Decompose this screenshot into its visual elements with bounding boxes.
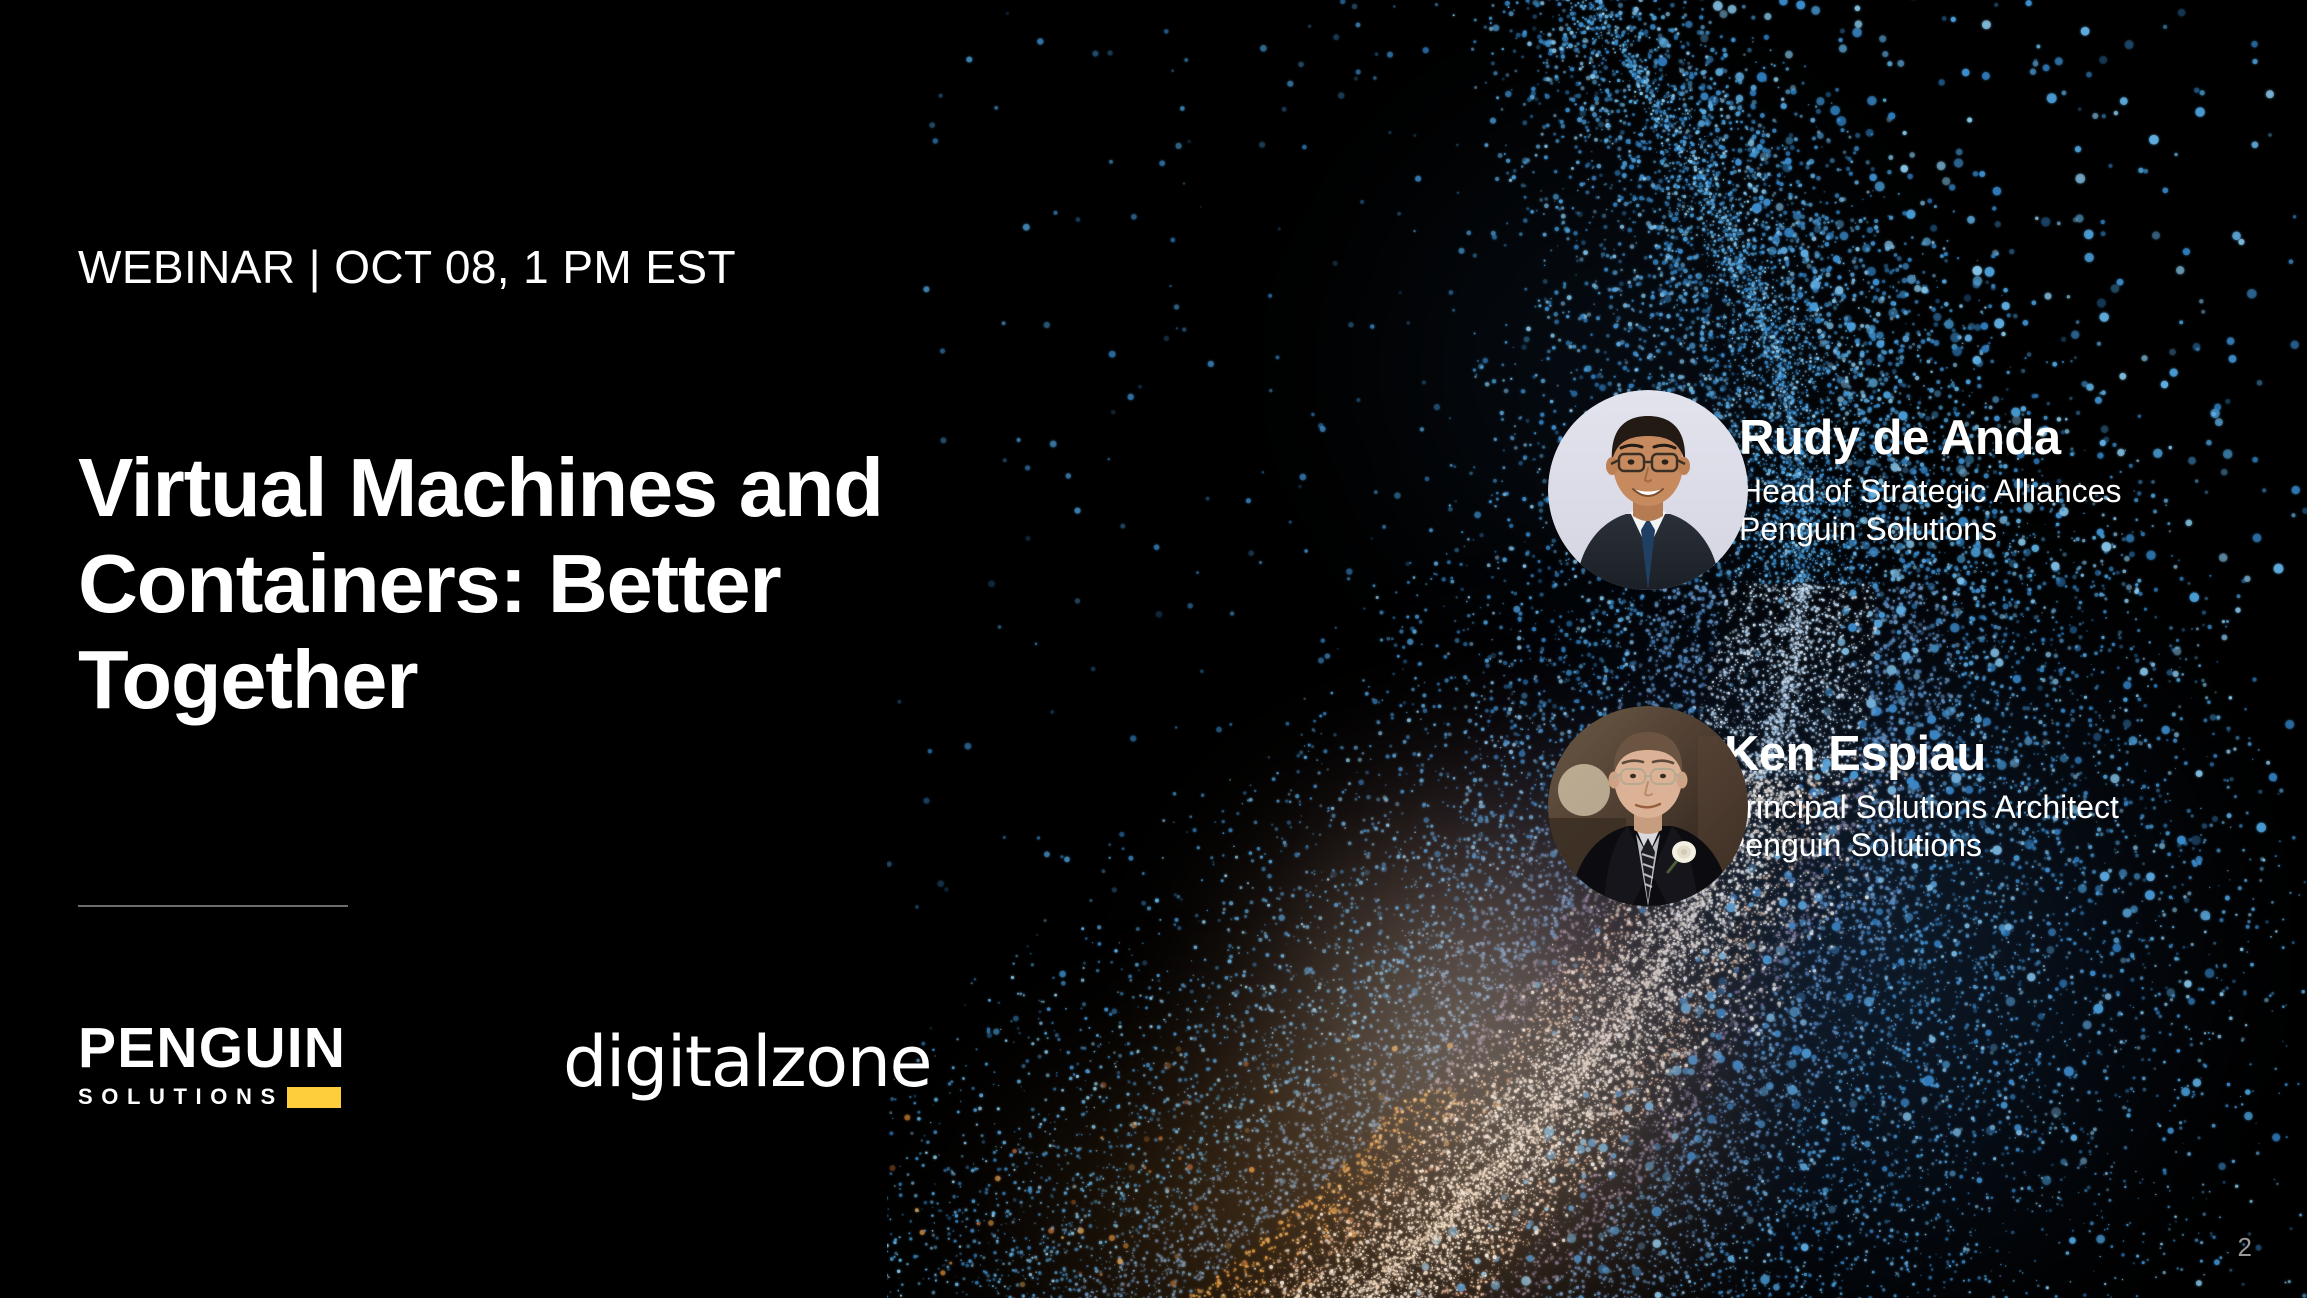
title-line-1: Virtual Machines and bbox=[78, 440, 1188, 536]
title-line-3: Together bbox=[78, 632, 1188, 728]
speaker-org: Penguin Solutions bbox=[1724, 826, 2119, 864]
logo-row: PENGUIN SOLUTIONS digitalzone bbox=[78, 1020, 931, 1108]
page-title: Virtual Machines and Containers: Better … bbox=[78, 440, 1188, 728]
speaker-role: Head of Strategic Alliances bbox=[1739, 472, 2121, 510]
digitalzone-logo: digitalzone bbox=[563, 1027, 931, 1097]
speaker-info: Ken Espiau Principal Solutions Architect… bbox=[1724, 728, 2119, 864]
penguin-solutions-logo: PENGUIN SOLUTIONS bbox=[78, 1020, 354, 1108]
speaker-info: Rudy de Anda Head of Strategic Alliances… bbox=[1739, 412, 2121, 548]
portrait-rudy-de-anda bbox=[1548, 390, 1748, 590]
penguin-subrow: SOLUTIONS bbox=[78, 1086, 354, 1108]
page-number: 2 bbox=[2238, 1232, 2252, 1263]
speaker-org: Penguin Solutions bbox=[1739, 510, 2121, 548]
avatar bbox=[1548, 706, 1748, 906]
webinar-title-slide: WEBINAR | OCT 08, 1 PM EST Virtual Machi… bbox=[0, 0, 2307, 1298]
glow-blue-lower bbox=[1507, 560, 2207, 1298]
slide-content: WEBINAR | OCT 08, 1 PM EST Virtual Machi… bbox=[78, 0, 1198, 1298]
webinar-eyebrow-date: WEBINAR | OCT 08, 1 PM EST bbox=[78, 240, 736, 294]
title-line-2: Containers: Better bbox=[78, 536, 1188, 632]
title-divider-rule bbox=[78, 905, 348, 907]
speaker-card-ken-espiau: Ken Espiau Principal Solutions Architect… bbox=[1548, 706, 2119, 906]
avatar bbox=[1548, 390, 1748, 590]
penguin-wordmark: PENGUIN bbox=[78, 1020, 354, 1077]
speaker-card-rudy-de-anda: Rudy de Anda Head of Strategic Alliances… bbox=[1548, 390, 2121, 590]
speaker-role: Principal Solutions Architect bbox=[1724, 788, 2119, 826]
speaker-name: Ken Espiau bbox=[1724, 728, 2119, 780]
penguin-accent-bar bbox=[287, 1087, 341, 1108]
penguin-solutions-subword: SOLUTIONS bbox=[78, 1086, 284, 1108]
speaker-name: Rudy de Anda bbox=[1739, 412, 2121, 464]
portrait-ken-espiau bbox=[1548, 706, 1748, 906]
